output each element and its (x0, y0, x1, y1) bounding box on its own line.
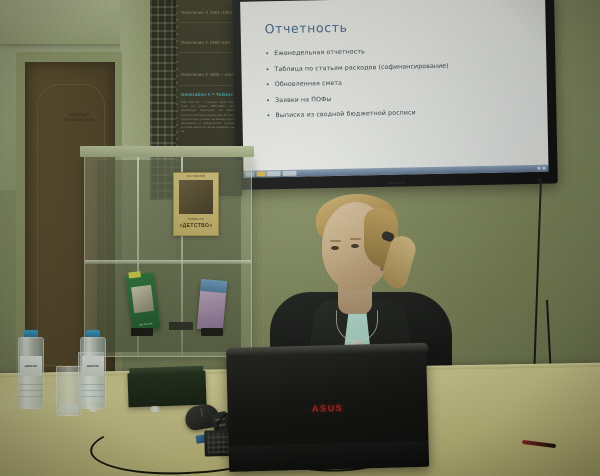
water-bottle[interactable]: ШКОЛА (18, 330, 44, 409)
poster-divider (179, 85, 239, 86)
eye-left (331, 246, 339, 250)
bottle-body: ШКОЛА (18, 337, 44, 409)
book-stand (131, 328, 153, 336)
tray-network-icon[interactable] (537, 167, 540, 170)
eye-right (351, 244, 359, 248)
poster-row-label: Поколение Z 2005 – наст. (181, 72, 239, 77)
stack-of-books (127, 371, 206, 408)
book-cover-portrait (131, 285, 154, 313)
price-tag (128, 271, 141, 278)
eyebrow-right (350, 238, 361, 240)
asus-laptop[interactable]: ASUS (226, 343, 431, 476)
poster-row: Поколение X 1961–1981 (181, 10, 239, 15)
tv-brand-logo: SAMSUNG (387, 181, 406, 184)
poster-row: Поколение Z 2005 – наст. (181, 72, 239, 77)
taskbar-item[interactable] (267, 171, 281, 176)
slide-bullet: Еженедельная отчетность (265, 45, 532, 57)
slide-bullet: Обновленная смета (266, 76, 533, 88)
bottle-neck (150, 406, 160, 412)
book-stand (201, 328, 223, 336)
door-sign: РЕДАКЦИЯ ИЗДАТЕЛЬСТВА (57, 110, 101, 126)
taskbar-item[interactable] (256, 171, 265, 176)
taskbar-item[interactable] (282, 171, 296, 176)
poster-row: Поколение Y 1982–200 (181, 40, 239, 45)
case-book-poster: Л.Н. ТОЛСТОЙ ПОВЕСТЬ «ДЕТСТВО» (173, 172, 219, 236)
case-poster-title: «ДЕТСТВО» (174, 223, 218, 229)
poster-row-label: Поколение X 1961–1981 (181, 10, 239, 15)
slide-bullet-list: Еженедельная отчетность Таблица по стать… (265, 45, 533, 119)
bottle-label: ШКОЛА (20, 356, 42, 376)
case-shelf (85, 260, 251, 264)
slide-bullet: Таблица по статьям расходов (софинансиро… (265, 60, 532, 72)
tv-screen[interactable]: Отчетность Еженедельная отчетность Табли… (240, 0, 548, 178)
asus-logo: ASUS (312, 403, 344, 414)
laptop-lid: ASUS (226, 349, 429, 472)
bottle-label: ШКОЛА (82, 356, 104, 376)
bottle-label-text: ШКОЛА (25, 364, 37, 368)
case-poster-author: Л.Н. ТОЛСТОЙ (174, 175, 218, 178)
poster-paragraph: Лев Толстой — первый герой эпохи. Годы е… (181, 100, 237, 134)
taskbar-tray[interactable] (537, 167, 546, 170)
bottle-cap (24, 330, 38, 337)
bottle-label-text: ШКОЛА (87, 364, 99, 368)
book-cover-text: Лев Толстой (132, 321, 160, 327)
slide-bullet: Заявки на ПОФы (266, 91, 533, 103)
drinking-glass (56, 366, 82, 416)
poster-divider (179, 22, 239, 23)
wall-mounted-tv[interactable]: Отчетность Еженедельная отчетность Табли… (232, 0, 558, 190)
case-poster-caption: ПОВЕСТЬ (174, 217, 218, 221)
case-display-box (169, 322, 193, 330)
case-second-book (197, 279, 227, 331)
photo-scene: РЕДАКЦИЯ ИЗДАТЕЛЬСТВА Поколение X 1961–1… (0, 0, 600, 476)
presentation-slide: Отчетность Еженедельная отчетность Табли… (240, 0, 548, 178)
lid-sheen (229, 441, 430, 468)
water-bottle[interactable]: ШКОЛА (80, 330, 106, 409)
slide-bullet: Выписка из сводной бюджетной росписи (266, 107, 533, 119)
bottle-cap (86, 330, 100, 337)
case-poster-image (179, 180, 213, 214)
glass-display-case: Л.Н. ТОЛСТОЙ ПОВЕСТЬ «ДЕТСТВО» Лев Толст… (84, 155, 252, 357)
bottle-body: ШКОЛА (80, 337, 106, 409)
door-sign-line-2: ИЗДАТЕЛЬСТВА (64, 119, 94, 122)
slide-title: Отчетность (265, 16, 532, 36)
book-cover-band (200, 279, 227, 293)
tray-volume-icon[interactable] (542, 167, 545, 170)
poster-row-label: Поколение Y 1982–200 (181, 40, 239, 45)
case-top-cap (80, 146, 254, 157)
eyebrow-left (330, 240, 341, 242)
poster-heading: Generation Y = TolstoY.ru (181, 92, 239, 97)
poster-divider (179, 52, 239, 53)
door-sign-line-1: РЕДАКЦИЯ (69, 114, 90, 117)
